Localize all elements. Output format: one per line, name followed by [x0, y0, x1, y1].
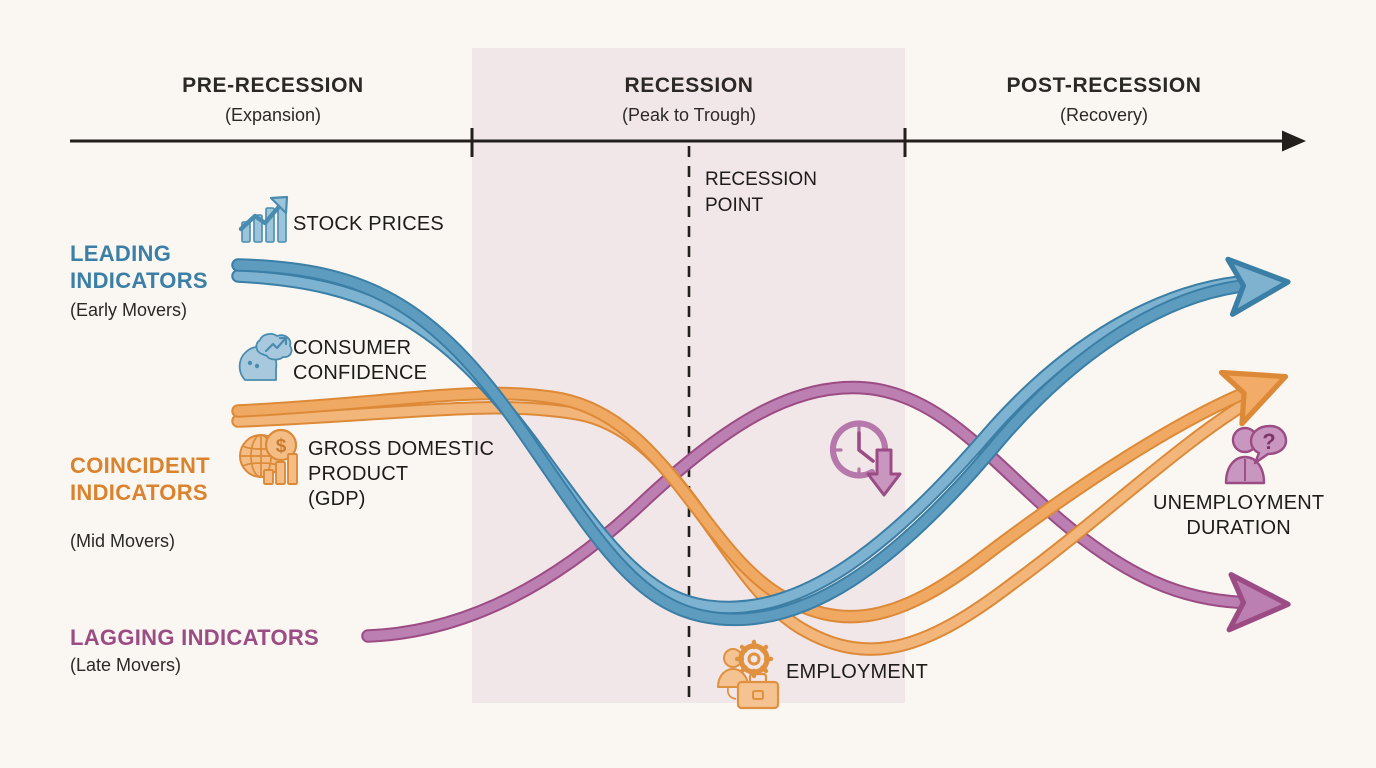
category-subtitle-coincident: (Mid Movers)	[70, 531, 175, 552]
phase-subtitle-post-recession: (Recovery)	[954, 105, 1254, 126]
phase-subtitle-pre-recession: (Expansion)	[123, 105, 423, 126]
phase-title-pre-recession: PRE-RECESSION	[123, 74, 423, 98]
category-subtitle-leading: (Early Movers)	[70, 300, 187, 321]
category-coincident-line2: INDICATORS	[70, 479, 210, 506]
person-question-icon: ?	[1226, 426, 1286, 483]
svg-text:$: $	[276, 436, 287, 457]
phase-title-recession: RECESSION	[539, 74, 839, 98]
indicator-unemployment-line2: DURATION	[1153, 516, 1324, 541]
indicator-consumer-confidence-line1: CONSUMER	[293, 336, 427, 361]
phase-subtitle-recession: (Peak to Trough)	[539, 105, 839, 126]
phase-title-post-recession: POST-RECESSION	[954, 74, 1254, 98]
recession-point-label: RECESSION POINT	[705, 167, 817, 219]
category-leading-line1: LEADING	[70, 240, 208, 267]
indicator-label-stock-prices: STOCK PRICES	[293, 212, 444, 237]
category-label-leading: LEADING INDICATORS	[70, 240, 208, 294]
svg-text:?: ?	[1262, 429, 1275, 454]
indicator-label-consumer-confidence: CONSUMER CONFIDENCE	[293, 336, 427, 386]
recession-point-label-line1: RECESSION	[705, 167, 817, 193]
category-label-lagging: LAGGING INDICATORS	[70, 624, 319, 651]
head-thought-trend-icon	[240, 334, 292, 380]
indicator-label-gdp: GROSS DOMESTIC PRODUCT (GDP)	[308, 437, 494, 512]
category-leading-line2: INDICATORS	[70, 267, 208, 294]
indicator-label-unemployment-duration: UNEMPLOYMENT DURATION	[1153, 491, 1324, 541]
infographic-canvas: $	[0, 0, 1376, 768]
indicator-unemployment-line1: UNEMPLOYMENT	[1153, 491, 1324, 516]
recession-point-label-line2: POINT	[705, 193, 817, 219]
bar-chart-uptrend-icon	[241, 197, 287, 242]
indicator-gdp-line2: PRODUCT	[308, 462, 494, 487]
indicator-gdp-line1: GROSS DOMESTIC	[308, 437, 494, 462]
category-label-coincident: COINCIDENT INDICATORS	[70, 452, 210, 506]
indicator-gdp-line3: (GDP)	[308, 487, 494, 512]
indicator-stock-prices-line1: STOCK PRICES	[293, 212, 444, 237]
category-lagging-line1: LAGGING INDICATORS	[70, 624, 319, 651]
category-subtitle-lagging: (Late Movers)	[70, 655, 181, 676]
indicator-employment-line1: EMPLOYMENT	[786, 660, 928, 685]
globe-dollar-bars-icon: $	[240, 430, 297, 484]
category-coincident-line1: COINCIDENT	[70, 452, 210, 479]
indicator-consumer-confidence-line2: CONFIDENCE	[293, 361, 427, 386]
indicator-label-employment: EMPLOYMENT	[786, 660, 928, 685]
